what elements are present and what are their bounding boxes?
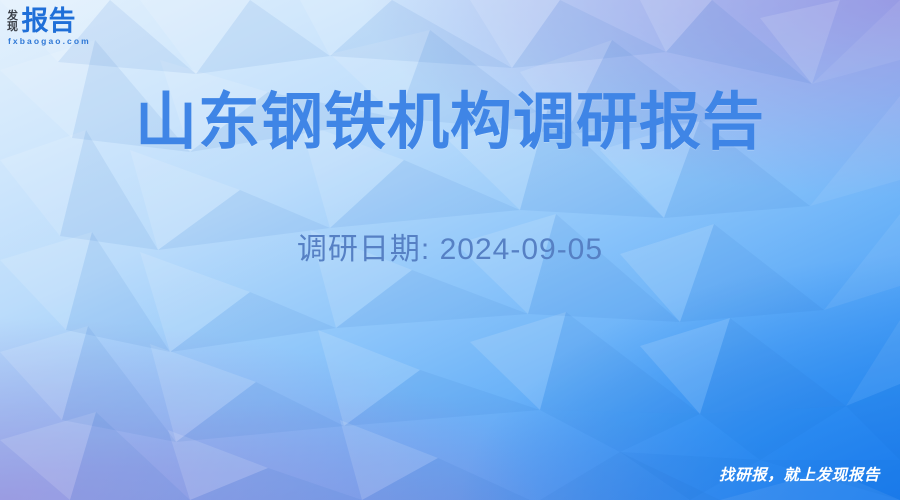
logo-wordmark-row: 发 现 报告 bbox=[7, 8, 91, 35]
brand-logo[interactable]: 发 现 报告 fxbaogao.com bbox=[7, 8, 91, 46]
logo-mark-stacked: 发 现 bbox=[7, 10, 18, 34]
logo-mark-char-bottom: 现 bbox=[7, 22, 18, 34]
footer-slogan: 找研报，就上发现报告 bbox=[719, 466, 880, 486]
report-cover-slide: 发 现 报告 fxbaogao.com 山东钢铁机构调研报告 调研日期: 202… bbox=[0, 0, 900, 500]
logo-wordmark: 报告 bbox=[22, 8, 76, 35]
survey-date-subtitle: 调研日期: 2024-09-05 bbox=[0, 230, 900, 270]
logo-url: fxbaogao.com bbox=[7, 36, 91, 46]
page-title: 山东钢铁机构调研报告 bbox=[0, 88, 900, 158]
